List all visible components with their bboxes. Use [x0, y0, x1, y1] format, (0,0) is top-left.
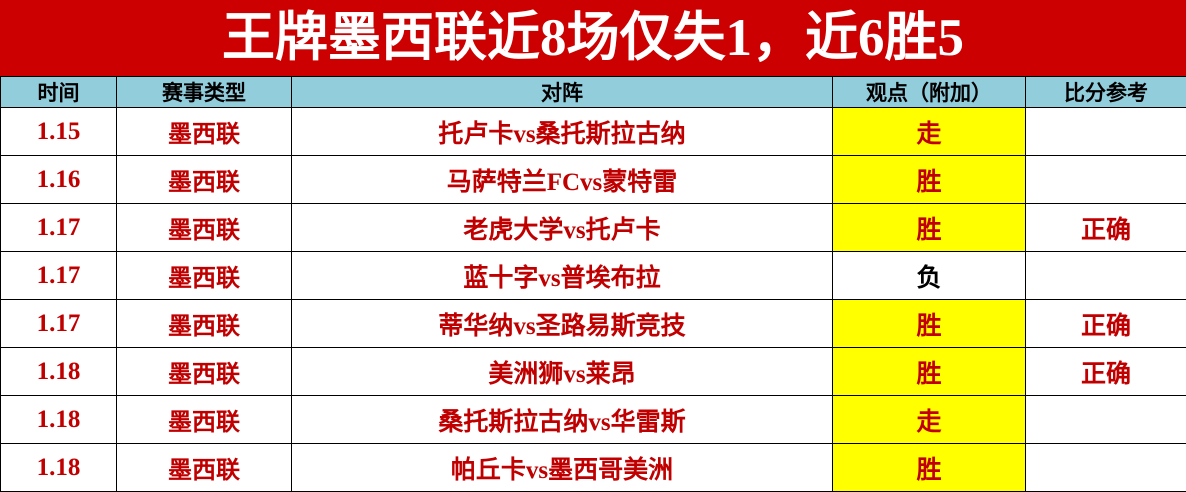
cell-view: 走 [833, 108, 1026, 156]
cell-view: 胜 [833, 444, 1026, 492]
cell-match: 蒂华纳vs圣路易斯竞技 [292, 300, 833, 348]
cell-league: 墨西联 [117, 204, 292, 252]
table-header: 时间 赛事类型 对阵 观点（附加） 比分参考 [1, 77, 1186, 108]
cell-time: 1.17 [1, 252, 117, 300]
cell-score [1026, 396, 1186, 444]
cell-match: 桑托斯拉古纳vs华雷斯 [292, 396, 833, 444]
cell-time: 1.15 [1, 108, 117, 156]
title-banner: 王牌墨西联近8场仅失1，近6胜5 [0, 0, 1186, 76]
cell-league: 墨西联 [117, 300, 292, 348]
column-header-time: 时间 [1, 77, 117, 108]
cell-time: 1.18 [1, 396, 117, 444]
cell-score [1026, 444, 1186, 492]
column-header-score: 比分参考 [1026, 77, 1186, 108]
cell-score [1026, 108, 1186, 156]
table-row: 1.18墨西联桑托斯拉古纳vs华雷斯走 [1, 396, 1186, 444]
cell-view: 胜 [833, 156, 1026, 204]
cell-match: 托卢卡vs桑托斯拉古纳 [292, 108, 833, 156]
cell-league: 墨西联 [117, 444, 292, 492]
cell-league: 墨西联 [117, 396, 292, 444]
column-header-league: 赛事类型 [117, 77, 292, 108]
cell-score: 正确 [1026, 300, 1186, 348]
cell-score: 正确 [1026, 204, 1186, 252]
cell-match: 老虎大学vs托卢卡 [292, 204, 833, 252]
prediction-sheet: 王牌墨西联近8场仅失1，近6胜5 时间 赛事类型 对阵 观点（附加） 比分参考 … [0, 0, 1186, 492]
page-title: 王牌墨西联近8场仅失1，近6胜5 [222, 12, 964, 65]
cell-match: 帕丘卡vs墨西哥美洲 [292, 444, 833, 492]
cell-score: 正确 [1026, 348, 1186, 396]
cell-view: 走 [833, 396, 1026, 444]
cell-league: 墨西联 [117, 108, 292, 156]
cell-score [1026, 156, 1186, 204]
cell-view: 胜 [833, 300, 1026, 348]
cell-time: 1.17 [1, 204, 117, 252]
table-row: 1.16墨西联马萨特兰FCvs蒙特雷胜 [1, 156, 1186, 204]
column-header-match: 对阵 [292, 77, 833, 108]
cell-match: 马萨特兰FCvs蒙特雷 [292, 156, 833, 204]
table-row: 1.18墨西联帕丘卡vs墨西哥美洲胜 [1, 444, 1186, 492]
matches-table: 时间 赛事类型 对阵 观点（附加） 比分参考 1.15墨西联托卢卡vs桑托斯拉古… [0, 76, 1186, 492]
cell-score [1026, 252, 1186, 300]
cell-time: 1.18 [1, 348, 117, 396]
table-body: 1.15墨西联托卢卡vs桑托斯拉古纳走1.16墨西联马萨特兰FCvs蒙特雷胜1.… [1, 108, 1186, 492]
cell-time: 1.18 [1, 444, 117, 492]
cell-time: 1.17 [1, 300, 117, 348]
table-row: 1.18墨西联美洲狮vs莱昂胜正确 [1, 348, 1186, 396]
cell-match: 蓝十字vs普埃布拉 [292, 252, 833, 300]
table-row: 1.15墨西联托卢卡vs桑托斯拉古纳走 [1, 108, 1186, 156]
cell-view: 胜 [833, 348, 1026, 396]
table-header-row: 时间 赛事类型 对阵 观点（附加） 比分参考 [1, 77, 1186, 108]
column-header-view: 观点（附加） [833, 77, 1026, 108]
cell-league: 墨西联 [117, 348, 292, 396]
cell-match: 美洲狮vs莱昂 [292, 348, 833, 396]
table-row: 1.17墨西联老虎大学vs托卢卡胜正确 [1, 204, 1186, 252]
cell-view: 胜 [833, 204, 1026, 252]
cell-view: 负 [833, 252, 1026, 300]
table-row: 1.17墨西联蓝十字vs普埃布拉负 [1, 252, 1186, 300]
cell-time: 1.16 [1, 156, 117, 204]
cell-league: 墨西联 [117, 252, 292, 300]
cell-league: 墨西联 [117, 156, 292, 204]
table-row: 1.17墨西联蒂华纳vs圣路易斯竞技胜正确 [1, 300, 1186, 348]
